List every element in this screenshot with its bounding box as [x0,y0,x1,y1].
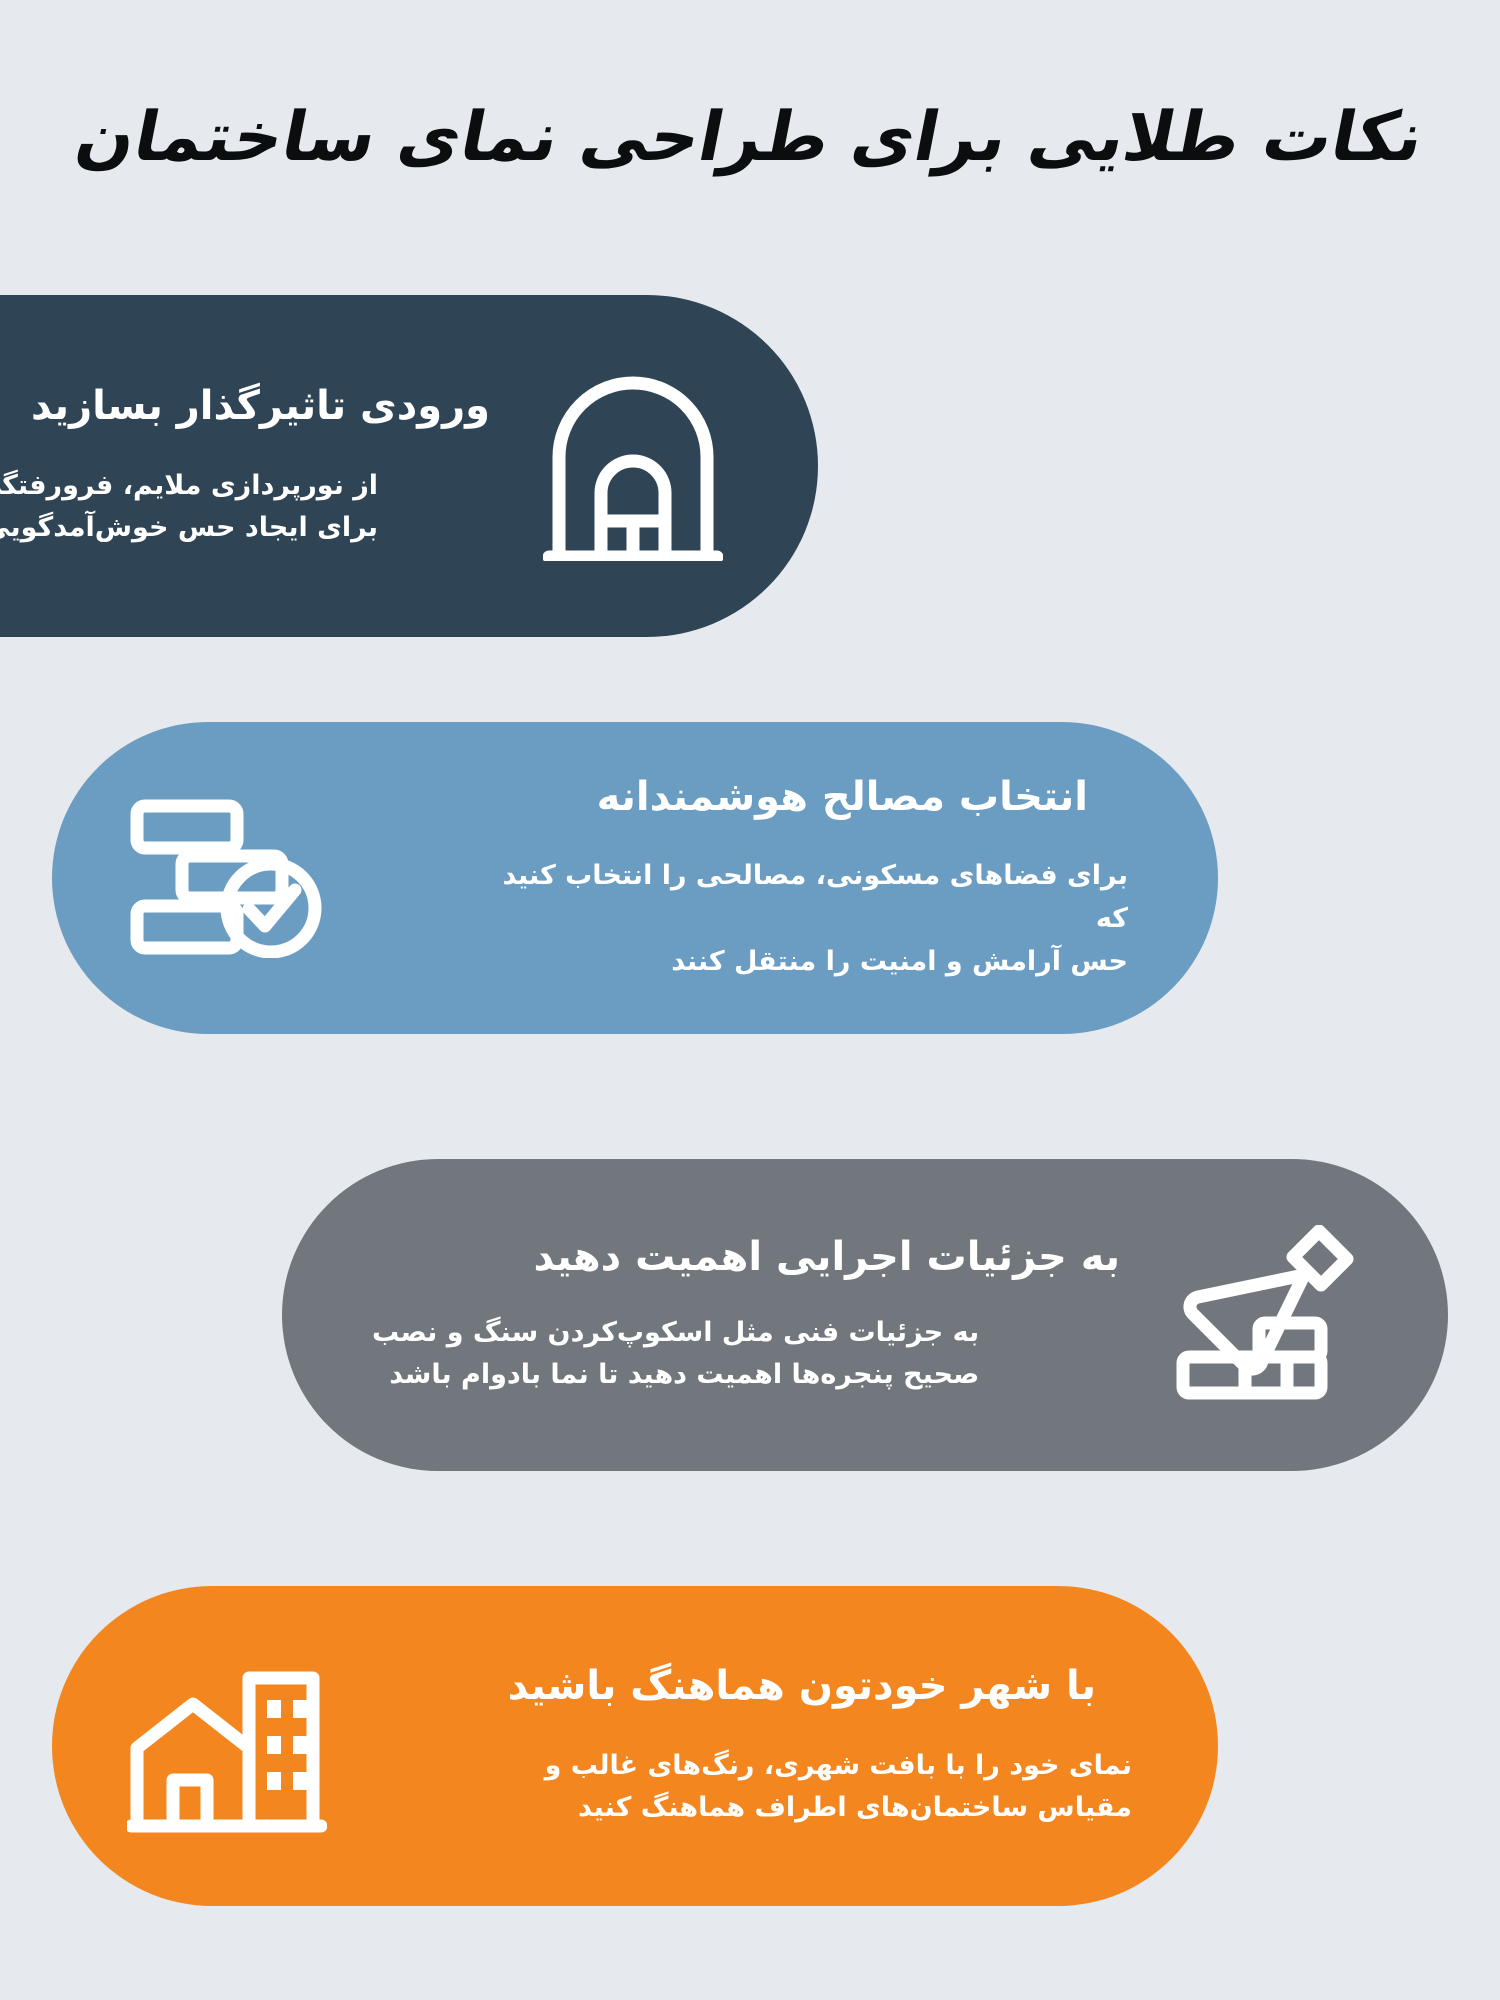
card-context-body-line-1: نمای خود را با بافت شهری، رنگ‌های غالب و [545,1750,1132,1781]
card-materials-text: انتخاب مصالح هوشمندانه برای فضاهای مسکون… [342,773,1158,984]
page-title-wrap: نکات طلایی برای طراحی نمای ساختمان [0,52,1500,223]
page-title: نکات طلایی برای طراحی نمای ساختمان [69,98,1430,178]
card-context-body: نمای خود را با بافت شهری، رنگ‌های غالب و… [545,1745,1132,1830]
card-details-body-line-2: صحیح پنجره‌ها اهمیت دهید تا نما بادوام ب… [389,1359,979,1390]
card-details[interactable]: به جزئیات اجرایی اهمیت دهید به جزئیات فن… [282,1159,1448,1471]
card-details-body: به جزئیات فنی مثل اسکوپ‌کردن سنگ و نصب ص… [372,1312,979,1397]
arch-doorway-icon [508,351,758,581]
card-context-heading: با شهر خودتون هماهنگ باشید [508,1662,1096,1711]
card-context-body-line-2: مقیاس ساختمان‌های اطراف هماهنگ کنید [578,1792,1132,1823]
trowel-bricks-icon [1138,1210,1388,1420]
buildings-icon [112,1641,342,1851]
card-materials-body-line-2: حس آرامش و امنیت را منتقل کنند [671,946,1128,977]
card-entrance-body-line-2: برای ایجاد حس خوش‌آمدگویی استفاده کنید [0,512,378,543]
card-materials-heading: انتخاب مصالح هوشمندانه [597,773,1088,822]
card-materials-body-line-1: برای فضاهای مسکونی، مصالحی را انتخاب کنی… [502,860,1128,934]
card-entrance-body: از نورپردازی ملایم، فرورفتگی‌ها و مصالح … [0,465,378,550]
card-entrance[interactable]: ورودی تاثیرگذار بسازید از نورپردازی ملای… [0,295,818,637]
card-context[interactable]: با شهر خودتون هماهنگ باشید نمای خود را ب… [52,1586,1218,1906]
infographic-page: نکات طلایی برای طراحی نمای ساختمان ورودی… [0,0,1500,2000]
card-entrance-text: ورودی تاثیرگذار بسازید از نورپردازی ملای… [0,382,508,550]
card-entrance-heading: ورودی تاثیرگذار بسازید [0,382,490,431]
bricks-check-icon [112,773,342,983]
card-materials-body: برای فضاهای مسکونی، مصالحی را انتخاب کنی… [488,855,1128,983]
card-context-text: با شهر خودتون هماهنگ باشید نمای خود را ب… [342,1662,1158,1830]
card-entrance-body-line-1: از نورپردازی ملایم، فرورفتگی‌ها و مصالح … [0,470,378,501]
card-details-body-line-1: به جزئیات فنی مثل اسکوپ‌کردن سنگ و نصب [372,1317,979,1348]
card-materials[interactable]: انتخاب مصالح هوشمندانه برای فضاهای مسکون… [52,722,1218,1034]
card-details-text: به جزئیات اجرایی اهمیت دهید به جزئیات فن… [342,1233,1138,1397]
card-details-heading: به جزئیات اجرایی اهمیت دهید [372,1233,1120,1282]
